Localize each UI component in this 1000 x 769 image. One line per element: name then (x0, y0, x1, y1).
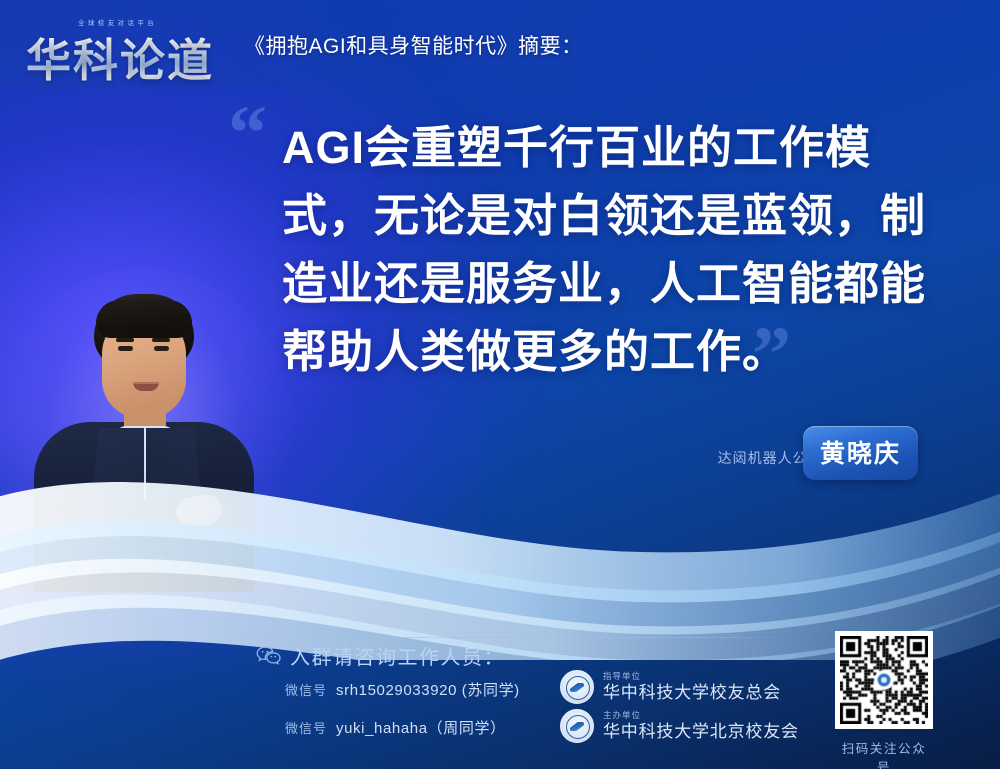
portrait-eyebrow-left (116, 338, 134, 342)
portrait-eye-left (118, 346, 133, 351)
organization-kind: 指导单位 (603, 671, 781, 682)
portrait-eyebrow-right (152, 338, 170, 342)
contact-value: srh15029033920 (苏同学) (336, 679, 520, 700)
footer-divider (287, 637, 795, 638)
university-seal-icon (560, 670, 594, 704)
organization-text: 主办单位 华中科技大学北京校友会 (603, 710, 799, 742)
quote-open-icon: “ (228, 94, 267, 172)
brand-logo: 全球校友对话平台 华科论道 (26, 14, 222, 76)
wave-decoration (0, 430, 1000, 660)
organization-text: 指导单位 华中科技大学校友总会 (603, 671, 781, 703)
qr-block: 扫码关注公众号 (835, 631, 933, 769)
poster-root: 全球校友对话平台 华科论道 《拥抱AGI和具身智能时代》摘要： “ ” AGI会… (0, 0, 1000, 769)
organization-kind: 主办单位 (603, 710, 799, 721)
organization-name: 华中科技大学北京校友会 (603, 721, 799, 742)
qr-caption: 扫码关注公众号 (835, 738, 933, 769)
quote-text: AGI会重塑千行百业的工作模 式，无论是对白领还是蓝领，制 造业还是服务业，人工… (282, 114, 937, 386)
footer-heading: 入群请咨询工作人员： (290, 641, 505, 670)
contact-value: yuki_hahaha（周同学） (336, 717, 506, 738)
portrait-hair-front (96, 300, 192, 338)
organization-row: 主办单位 华中科技大学北京校友会 (560, 709, 799, 743)
quote-line: 式，无论是对白领还是蓝领，制 (282, 182, 937, 250)
university-seal-icon (560, 709, 594, 743)
quote-line: 帮助人类做更多的工作。 (282, 318, 937, 386)
organization-row: 指导单位 华中科技大学校友总会 (560, 670, 781, 704)
logo-wordmark: 华科论道 (26, 24, 214, 89)
contact-row: 微信号 srh15029033920 (苏同学) (285, 679, 520, 700)
organization-name: 华中科技大学校友总会 (603, 682, 781, 703)
quote-line: AGI会重塑千行百业的工作模 (282, 114, 937, 182)
wechat-icon (256, 646, 282, 666)
quote-line: 造业还是服务业，人工智能都能 (282, 250, 937, 318)
qr-code[interactable] (835, 631, 933, 729)
contact-row: 微信号 yuki_hahaha（周同学） (285, 717, 506, 738)
contact-label: 微信号 (285, 680, 327, 699)
page-title: 《拥抱AGI和具身智能时代》摘要： (244, 30, 583, 60)
header-bar: 全球校友对话平台 华科论道 《拥抱AGI和具身智能时代》摘要： (0, 0, 1000, 90)
portrait-eye-right (154, 346, 169, 351)
contact-label: 微信号 (285, 718, 327, 737)
